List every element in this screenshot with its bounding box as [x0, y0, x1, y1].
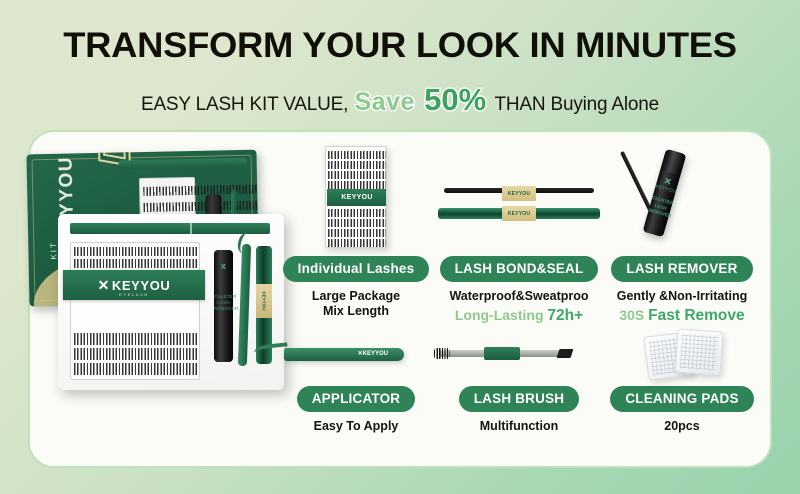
desc-line-1: Waterproof&Sweatproo	[434, 289, 604, 304]
bond-label-text-1: KEYYOU	[508, 191, 530, 197]
label-lash-remover: LASH REMOVER	[611, 256, 752, 282]
label-lash-bond-seal: LASH BOND&SEAL	[440, 256, 599, 282]
kit-word-vertical: KIT	[49, 241, 58, 260]
tweezers-front	[238, 244, 251, 366]
desc-lash-brush: Multifunction	[434, 419, 604, 434]
product-lash-brush: LASH BRUSH Multifunction	[434, 332, 604, 434]
lash-brush-tool	[440, 350, 566, 357]
bond-seal-art: KEYYOU KEYYOU	[434, 146, 604, 256]
keyyou-logo: ✕KEYYOU	[98, 277, 171, 294]
desc-line-1: Gently &Non-Irritating	[602, 289, 762, 304]
lash-tray-front	[70, 242, 200, 380]
subtitle-suffix: THAN Buying Alone	[494, 94, 659, 115]
bond-label-text-2: KEYYOU	[508, 211, 530, 217]
individual-lashes-art: KEYYOU	[276, 146, 436, 256]
product-lash-remover: ✕ KEYYOU CLUSTERLASHREMOVER LASH REMOVER…	[602, 146, 762, 325]
kit-strip-front	[70, 223, 270, 234]
cleaning-pad-front	[675, 328, 724, 375]
desc-cleaning-pads: 20pcs	[602, 419, 762, 434]
tube-x-icon: X	[214, 264, 233, 271]
discount-percent: 50%	[424, 82, 486, 117]
bottle-text: CLUSTERLASHREMOVER	[648, 195, 674, 220]
x-logo-icon: ✕	[98, 277, 110, 293]
product-individual-lashes: KEYYOU Individual Lashes Large Package M…	[276, 146, 436, 319]
angled-brush-end-icon	[557, 349, 574, 358]
cleaning-pads-art	[602, 328, 762, 386]
product-applicator: ✕KEYYOU APPLICATOR Easy To Apply	[276, 332, 436, 434]
lash-rows-front	[71, 243, 199, 379]
page-title: TRANSFORM YOUR LOOK IN MINUTES	[0, 26, 800, 66]
desc-individual-lashes: Large Package Mix Length	[276, 289, 436, 319]
lash-brush-art	[434, 332, 604, 386]
desc-lash-bond-seal: Waterproof&Sweatproo	[434, 289, 604, 304]
header-banner: TRANSFORM YOUR LOOK IN MINUTES EASY LASH…	[0, 0, 800, 122]
lash-tray-product: KEYYOU	[325, 146, 387, 248]
product-lash-bond-seal: KEYYOU KEYYOU LASH BOND&SEAL Waterproof&…	[434, 146, 604, 325]
value-subtitle: EASY LASH KIT VALUE, Save 50% THAN Buyin…	[0, 82, 800, 118]
accent-lash-bond-seal: Long-Lasting 72h+	[434, 307, 604, 325]
save-word: Save	[354, 88, 414, 116]
accent-light-text: Long-Lasting	[455, 307, 544, 323]
desc-line-1: 20pcs	[602, 419, 762, 434]
lash-remover-art: ✕ KEYYOU CLUSTERLASHREMOVER	[602, 146, 762, 256]
label-lash-brush: LASH BRUSH	[459, 386, 580, 412]
desc-line-2: Mix Length	[276, 304, 436, 319]
kit-brand-band: ✕KEYYOU EYELASH	[63, 270, 205, 300]
accent-dark-text: 72h+	[547, 307, 583, 324]
pen-label-text: KEYYOU	[262, 292, 267, 308]
accent-light-text: 30S	[619, 307, 644, 323]
applicator-tweezers: ✕KEYYOU	[284, 348, 404, 361]
band-brand-text: KEYYOU	[112, 278, 171, 293]
desc-line-1: Easy To Apply	[276, 419, 436, 434]
desc-line-1: Large Package	[276, 289, 436, 304]
bond-pen-thick: KEYYOU	[438, 208, 600, 219]
bond-pen-thin-label: KEYYOU	[502, 186, 536, 201]
subtitle-prefix: EASY LASH KIT VALUE,	[141, 94, 348, 115]
tweezers-brand-text: KEYYOU	[363, 351, 388, 357]
accent-lash-remover: 30S Fast Remove	[602, 307, 762, 325]
band-subtext: EYELASH	[63, 292, 205, 297]
label-individual-lashes: Individual Lashes	[283, 256, 430, 282]
applicator-art: ✕KEYYOU	[276, 332, 436, 386]
accent-dark-text: Fast Remove	[648, 307, 744, 324]
kit-box-front: ✕KEYYOU EYELASH X CLUSTER LASH REMOVER K…	[58, 214, 284, 390]
desc-applicator: Easy To Apply	[276, 419, 436, 434]
tray-brand-text: KEYYOU	[341, 194, 372, 201]
tweezers-brand: ✕KEYYOU	[358, 350, 388, 357]
tube-text: CLUSTER LASH REMOVER	[214, 294, 233, 312]
kit-photo: KEYYOU KIT DIY	[2, 140, 302, 470]
remover-tube-front: X CLUSTER LASH REMOVER	[214, 250, 233, 362]
spoolie-end-icon	[434, 348, 450, 359]
brush-grip	[484, 347, 520, 360]
bond-pen-thick-label: KEYYOU	[502, 206, 536, 221]
bond-pen-thin: KEYYOU	[444, 188, 594, 193]
product-cleaning-pads: CLEANING PADS 20pcs	[602, 328, 762, 434]
tray-brand-band: KEYYOU	[327, 189, 387, 206]
remover-bottle: ✕ KEYYOU CLUSTERLASHREMOVER	[643, 149, 687, 237]
desc-line-1: Multifunction	[434, 419, 604, 434]
desc-lash-remover: Gently &Non-Irritating	[602, 289, 762, 304]
bottle-cap	[662, 149, 684, 175]
product-card: KEYYOU KIT DIY	[28, 130, 772, 468]
label-cleaning-pads: CLEANING PADS	[610, 386, 753, 412]
kit-strip-back	[119, 158, 247, 170]
pen-gold-label: KEYYOU	[256, 284, 272, 318]
label-applicator: APPLICATOR	[297, 386, 416, 412]
